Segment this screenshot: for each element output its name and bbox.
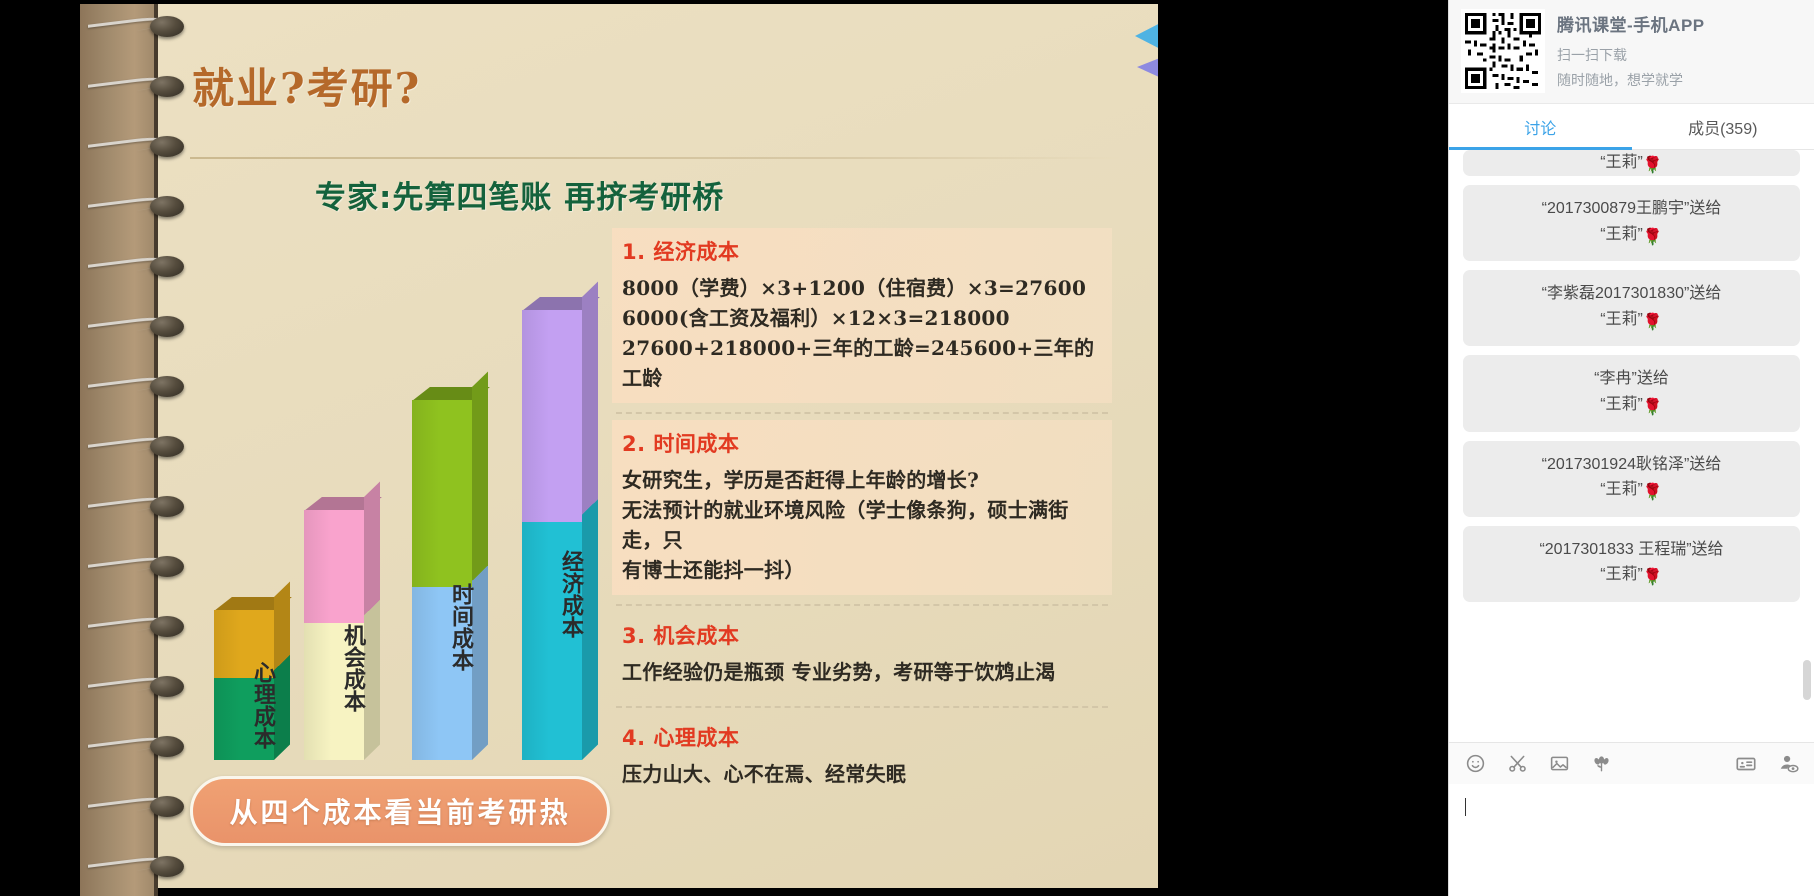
note-heading: 1. 经济成本 [622, 236, 1102, 266]
chart-caption-text: 从四个成本看当前考研热 [229, 791, 570, 831]
chart-bar: 心理成本 [214, 610, 274, 760]
chart-bar: 经济成本 [522, 310, 582, 760]
image-icon[interactable] [1547, 752, 1571, 776]
scissors-icon[interactable] [1505, 752, 1529, 776]
panel-tabs: 讨论成员(359) [1449, 104, 1814, 150]
chart-bar-label: 机会成本 [304, 585, 364, 750]
slide-title-divider [190, 157, 1120, 159]
chart-bar: 时间成本 [412, 400, 472, 760]
slide-title: 就业?考研? [192, 55, 421, 116]
slide-subtitle: 专家:先算四笔账 再挤考研桥 [315, 172, 724, 217]
notebook-binder-strip [80, 0, 158, 896]
flower-gift-icon[interactable] [1589, 752, 1613, 776]
slide-notes-column: 1. 经济成本8000（学费）×3+1200（住宿费）×3=276006000(… [612, 228, 1112, 799]
message-line-2: “王莉”🌹 [1475, 477, 1788, 506]
scrollbar-thumb[interactable] [1803, 660, 1811, 700]
rose-emoji: 🌹 [1643, 565, 1663, 591]
message-line-1: “李紫磊2017301830”送给 [1475, 281, 1788, 307]
chart-caption-pill: 从四个成本看当前考研热 [190, 776, 610, 846]
note-divider [616, 604, 1108, 606]
bar-side-face [472, 372, 488, 760]
message-input[interactable] [1449, 784, 1814, 896]
promo-text: 腾讯课堂-手机APP 扫一扫下载 随时随地，想学就学 [1557, 9, 1705, 93]
note-divider [616, 412, 1108, 414]
note-divider [616, 706, 1108, 708]
text-caret [1465, 798, 1466, 816]
message-line-2: “王莉”🌹 [1475, 392, 1788, 421]
message-bubble[interactable]: “李紫磊2017301830”送给“王莉”🌹 [1463, 270, 1800, 346]
chart-bar-label: 经济成本 [522, 445, 582, 742]
message-line-2: “王莉”🌹 [1475, 562, 1788, 591]
promo-line-1: 扫一扫下载 [1557, 45, 1705, 65]
rose-emoji: 🌹 [1643, 310, 1663, 336]
message-bubble[interactable]: “李冉”送给“王莉”🌹 [1463, 355, 1800, 431]
note-line: 8000（学费）×3+1200（住宿费）×3=27600 [622, 273, 1102, 303]
letterbox-left [0, 0, 80, 896]
message-scrollbar[interactable] [1803, 150, 1811, 742]
cost-bar-chart: 心理成本机会成本时间成本经济成本 [200, 240, 600, 760]
rose-emoji: 🌹 [1643, 395, 1663, 421]
message-bubble[interactable]: “2017301833 王程瑞”送给“王莉”🌹 [1463, 526, 1800, 602]
note-line: 女研究生，学历是否赶得上年龄的增长? [622, 465, 1102, 495]
message-line-2: “王莉”🌹 [1475, 307, 1788, 336]
mobile-app-promo: 腾讯课堂-手机APP 扫一扫下载 随时随地，想学就学 [1449, 0, 1814, 104]
note-block: 3. 机会成本工作经验仍是瓶颈 专业劣势，考研等于饮鸩止渴 [612, 612, 1112, 697]
chart-bar-label: 心理成本 [214, 655, 274, 754]
live-class-window: 就业?考研? 专家:先算四笔账 再挤考研桥 腾讯课堂 心理成本机会成本时间成本经… [0, 0, 1814, 896]
letterbox-right [1158, 0, 1448, 896]
rose-emoji: 🌹 [1643, 225, 1663, 251]
chart-bar-label: 时间成本 [412, 508, 472, 746]
qr-code-icon [1461, 9, 1545, 93]
message-line-1: “2017301833 王程瑞”送给 [1475, 537, 1788, 563]
letterbox-top [0, 0, 1448, 4]
message-bubble[interactable]: “2017300879王鹏宇”送给“王莉”🌹 [1463, 185, 1800, 261]
message-list[interactable]: “王莉”🌹“2017300879王鹏宇”送给“王莉”🌹“李紫磊201730183… [1449, 150, 1814, 742]
person-view-icon[interactable] [1776, 752, 1800, 776]
promo-title: 腾讯课堂-手机APP [1557, 11, 1705, 36]
message-bubble[interactable]: “2017301924耿铭泽”送给“王莉”🌹 [1463, 441, 1800, 517]
note-line: 工作经验仍是瓶颈 专业劣势，考研等于饮鸩止渴 [622, 657, 1102, 687]
note-block: 1. 经济成本8000（学费）×3+1200（住宿费）×3=276006000(… [612, 228, 1112, 403]
message-line-2: “王莉”🌹 [1475, 222, 1788, 251]
bar-side-face [364, 482, 380, 760]
message-line-2: “王莉”🌹 [1475, 150, 1788, 176]
chat-toolbar [1449, 742, 1814, 784]
note-heading: 2. 时间成本 [622, 428, 1102, 458]
chart-bar: 机会成本 [304, 510, 364, 760]
note-heading: 3. 机会成本 [622, 620, 1102, 650]
note-heading: 4. 心理成本 [622, 722, 1102, 752]
message-bubble[interactable]: “王莉”🌹 [1463, 150, 1800, 176]
promo-line-2: 随时随地，想学就学 [1557, 70, 1705, 90]
chat-panel: 腾讯课堂-手机APP 扫一扫下载 随时随地，想学就学 讨论成员(359) “王莉… [1448, 0, 1814, 896]
message-line-1: “李冉”送给 [1475, 366, 1788, 392]
card-icon[interactable] [1734, 752, 1758, 776]
tab-members[interactable]: 成员(359) [1632, 104, 1814, 149]
message-textarea[interactable] [1463, 794, 1800, 882]
note-line: 压力山大、心不在焉、经常失眠 [622, 759, 1102, 789]
message-line-1: “2017301924耿铭泽”送给 [1475, 452, 1788, 478]
note-block: 2. 时间成本女研究生，学历是否赶得上年龄的增长?无法预计的就业环境风险（学士像… [612, 420, 1112, 595]
rose-emoji: 🌹 [1643, 153, 1663, 176]
emoji-icon[interactable] [1463, 752, 1487, 776]
message-line-1: “2017300879王鹏宇”送给 [1475, 196, 1788, 222]
note-line: 6000(含工资及福利）×12×3=218000 [622, 303, 1102, 333]
note-line: 有博士还能抖一抖） [622, 555, 1102, 585]
bar-side-face [582, 282, 598, 760]
note-block: 4. 心理成本压力山大、心不在焉、经常失眠 [612, 714, 1112, 799]
bar-side-face [274, 582, 290, 760]
tab-discussion[interactable]: 讨论 [1449, 104, 1632, 149]
note-line: 无法预计的就业环境风险（学士像条狗，硕士满街走，只 [622, 495, 1102, 555]
note-line: 27600+218000+三年的工龄=245600+三年的工龄 [622, 333, 1102, 393]
rose-emoji: 🌹 [1643, 480, 1663, 506]
